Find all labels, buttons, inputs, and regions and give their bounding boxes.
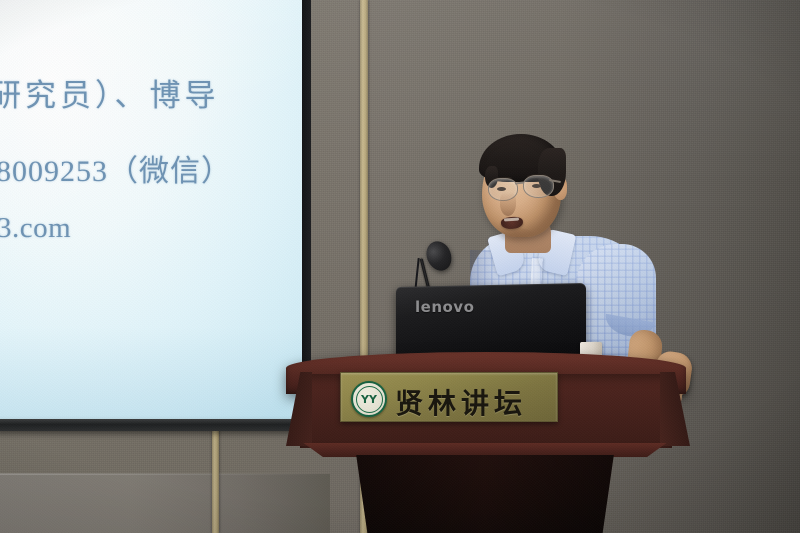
chin-shadow	[496, 228, 536, 244]
slide-line-2: 98009253（微信）	[0, 146, 232, 190]
photo-canvas: 研究员）、博导 98009253（微信） 63.com	[0, 0, 800, 533]
slide-line-1: 研究员）、博导	[0, 70, 220, 115]
nose	[500, 192, 516, 216]
screen-light-falloff	[0, 0, 302, 420]
screen-bottom-bar	[0, 419, 306, 431]
slide-line-3: 63.com	[0, 212, 71, 245]
university-emblem: YY	[351, 381, 387, 417]
emblem-monogram: YY	[353, 394, 385, 405]
projection-screen: 研究员）、博导 98009253（微信） 63.com	[0, 0, 302, 420]
podium-plaque: YY 贤林讲坛	[340, 372, 558, 422]
podium-base-shading	[345, 455, 625, 533]
plaque-label: 贤林讲坛	[395, 382, 527, 422]
podium-bottom-ledge	[292, 443, 678, 457]
laptop-brand-logo: lenovo	[415, 298, 474, 316]
